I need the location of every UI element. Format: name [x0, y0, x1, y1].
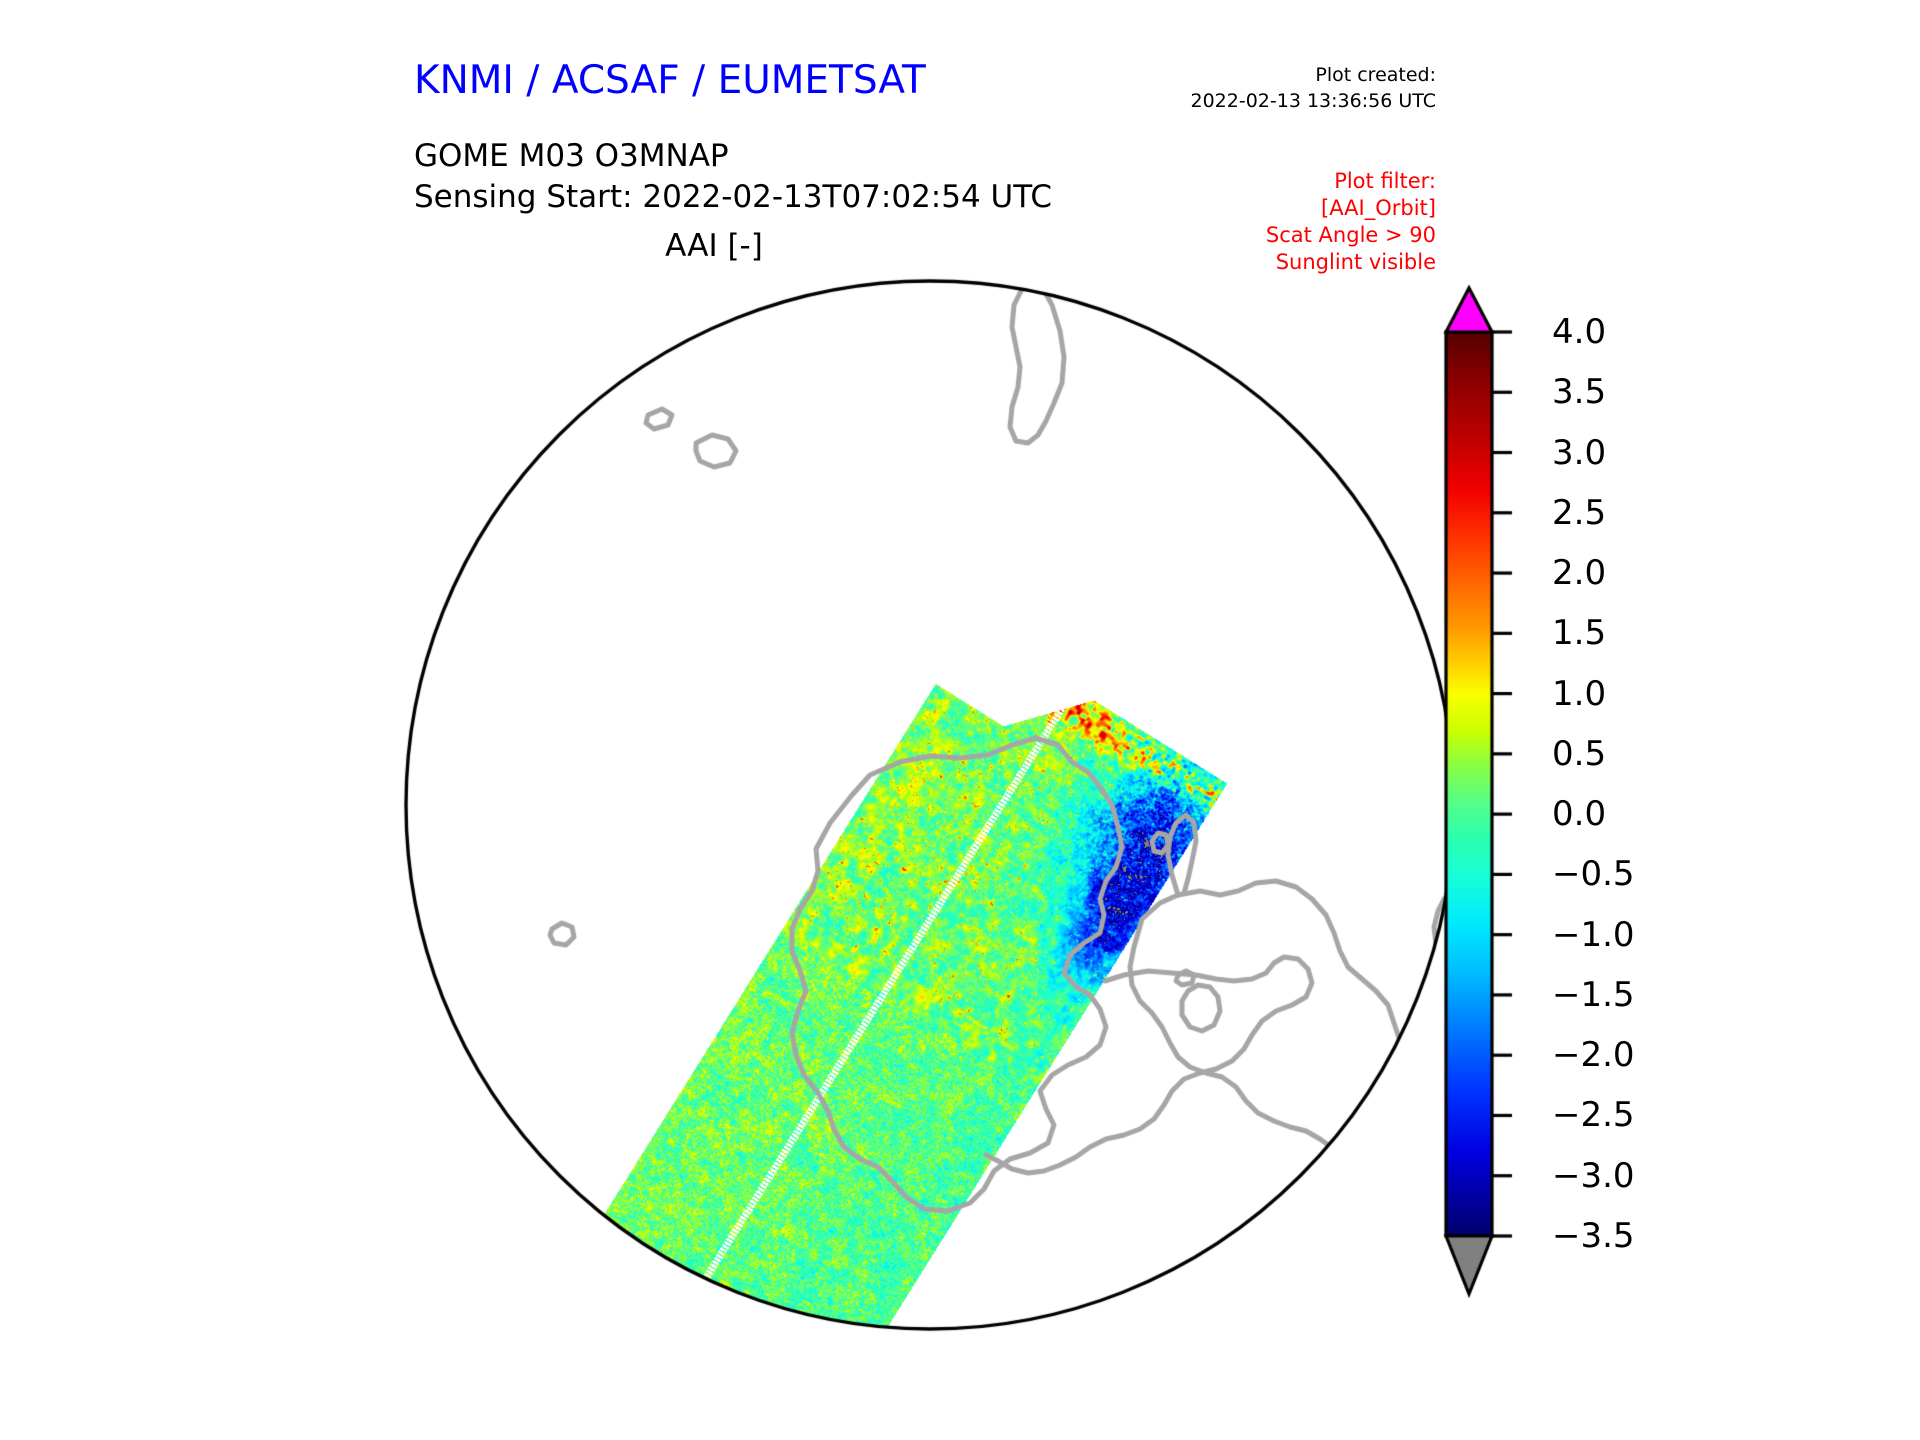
colorbar-tick-1: 3.5	[1552, 372, 1606, 412]
quantity-title: AAI [-]	[414, 228, 1014, 264]
colorbar-tick-6: 1.0	[1552, 674, 1606, 714]
colorbar-tick-2: 3.0	[1552, 433, 1606, 473]
plot-created-time: 2022-02-13 13:36:56 UTC	[1100, 88, 1436, 114]
product-header: GOME M03 O3MNAP Sensing Start: 2022-02-1…	[414, 136, 1052, 218]
colorbar-tick-5: 1.5	[1552, 613, 1606, 653]
plot-created-label: Plot created:	[1100, 62, 1436, 88]
colorbar-tick-10: −1.0	[1552, 915, 1635, 955]
sensing-start: Sensing Start: 2022-02-13T07:02:54 UTC	[414, 177, 1052, 218]
polar-map-plot	[400, 275, 1460, 1335]
plot-filter-line-2: Scat Angle > 90	[1120, 222, 1436, 249]
colorbar-tick-0: 4.0	[1552, 312, 1606, 352]
plot-filter-line-3: Sunglint visible	[1120, 249, 1436, 276]
agency-title: KNMI / ACSAF / EUMETSAT	[414, 58, 926, 103]
product-name: GOME M03 O3MNAP	[414, 138, 729, 174]
colorbar-tick-labels: 4.03.53.02.52.01.51.00.50.0−0.5−1.0−1.5−…	[1508, 280, 1658, 1340]
colorbar-tick-9: −0.5	[1552, 854, 1635, 894]
colorbar-tick-14: −3.0	[1552, 1156, 1635, 1196]
colorbar: 4.03.53.02.52.01.51.00.50.0−0.5−1.0−1.5−…	[1440, 280, 1660, 1340]
colorbar-tick-3: 2.5	[1552, 493, 1606, 533]
colorbar-tick-12: −2.0	[1552, 1035, 1635, 1075]
plot-filter-line-1: [AAI_Orbit]	[1120, 195, 1436, 222]
plot-created-block: Plot created: 2022-02-13 13:36:56 UTC	[1100, 62, 1436, 114]
plot-filter-block: Plot filter: [AAI_Orbit] Scat Angle > 90…	[1120, 168, 1436, 276]
colorbar-tick-15: −3.5	[1552, 1216, 1635, 1256]
colorbar-tick-13: −2.5	[1552, 1095, 1635, 1135]
colorbar-tick-11: −1.5	[1552, 975, 1635, 1015]
plot-filter-title: Plot filter:	[1120, 168, 1436, 195]
colorbar-tick-7: 0.5	[1552, 734, 1606, 774]
colorbar-tick-8: 0.0	[1552, 794, 1606, 834]
plot-stage: KNMI / ACSAF / EUMETSAT GOME M03 O3MNAP …	[0, 0, 1920, 1440]
colorbar-tick-4: 2.0	[1552, 553, 1606, 593]
